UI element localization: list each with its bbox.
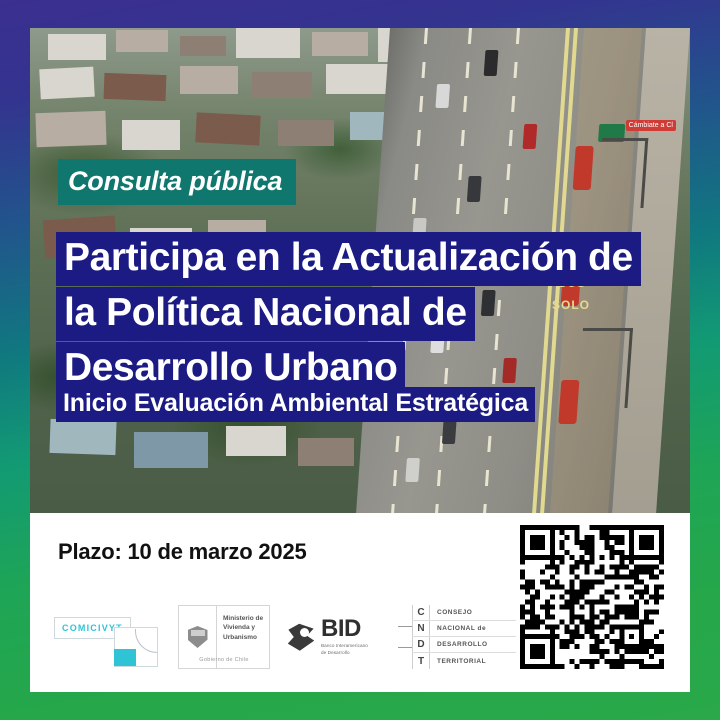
photo-building [48,34,106,60]
photo-building [134,432,208,468]
cndt-word: CONSEJO [437,609,472,616]
photo-vehicle [523,124,538,149]
photo-building [326,64,392,94]
photo-building [122,120,180,150]
bid-wordmark: BID [321,618,368,641]
bid-sub-2: de Desarrollo [321,650,368,656]
photo-red-sign: Cámbiate a Cl [626,120,676,131]
headline: Participa en la Actualización de la Polí… [56,232,666,397]
photo-vehicle [484,50,499,76]
headline-line-2: la Política Nacional de [56,287,475,341]
cndt-tick [398,647,412,648]
photo-vehicle [442,418,457,444]
cndt-word: DESARROLLO [437,641,488,648]
photo-building [35,111,106,147]
cndt-row: T TERRITORIAL [412,653,524,669]
photo-light-pole-arm [602,138,648,141]
hero-photo: Cámbiate a Cl BUS SOLO Consulta pública … [30,28,690,513]
photo-vehicle [467,176,482,202]
photo-building [226,426,286,456]
photo-building [180,36,226,56]
logo-consejo-nacional-desarrollo-territorial: C CONSEJO N NACIONAL de D DESARROLLO T T… [398,605,510,669]
photo-building [252,72,312,98]
comicivyt-fill-icon [114,649,136,666]
cndt-letter: T [412,656,430,667]
photo-building [49,419,116,455]
cndt-row: N NACIONAL de [412,621,524,637]
logo-ministerio-vivienda-urbanismo: Ministerio de Vivienda y Urbanismo Gobie… [178,605,270,669]
photo-building [312,32,368,56]
cndt-word: TERRITORIAL [437,658,486,665]
qr-code[interactable] [516,521,668,673]
cndt-word: NACIONAL de [437,625,486,632]
poster-root: Cámbiate a Cl BUS SOLO Consulta pública … [0,0,720,720]
logo-strip: COMICIVYT Ministerio de Vivienda y Urban… [54,605,510,669]
photo-vehicle [405,458,420,482]
bid-globe-icon [286,622,316,652]
photo-bus [573,146,594,190]
headline-line-1: Participa en la Actualización de [56,232,641,286]
bid-sub-1: Banco Interamericano [321,643,368,649]
cndt-row: D DESARROLLO [412,637,524,653]
minvu-line-2: Vivienda y [223,623,264,632]
logo-comicivyt: COMICIVYT [54,607,162,667]
photo-building [39,67,94,100]
photo-building [195,112,260,145]
poster-card: Cámbiate a Cl BUS SOLO Consulta pública … [30,28,690,692]
subline: Inicio Evaluación Ambiental Estratégica [56,387,535,422]
footer: Plazo: 10 de marzo 2025 COMICIVYT Minist… [30,513,690,692]
minvu-line-3: Urbanismo [223,633,264,642]
subline-text: Inicio Evaluación Ambiental Estratégica [56,387,535,422]
logo-bid: BID Banco Interamericano de Desarrollo [286,615,382,659]
photo-building [180,66,238,94]
photo-building [116,30,168,52]
cndt-tick [398,626,412,627]
photo-vehicle [435,84,450,108]
cndt-row: C CONSEJO [412,605,524,621]
minvu-line-1: Ministerio de [223,614,264,623]
cndt-letter: N [412,623,430,634]
eyebrow-badge: Consulta pública [58,159,296,205]
photo-building [236,28,300,58]
deadline-text: Plazo: 10 de marzo 2025 [58,539,307,565]
cndt-letter: C [412,607,430,618]
photo-building [298,438,354,466]
minvu-gobierno-label: Gobierno de Chile [179,657,269,663]
photo-building [278,120,334,146]
cndt-letter: D [412,639,430,650]
photo-building [104,73,167,101]
